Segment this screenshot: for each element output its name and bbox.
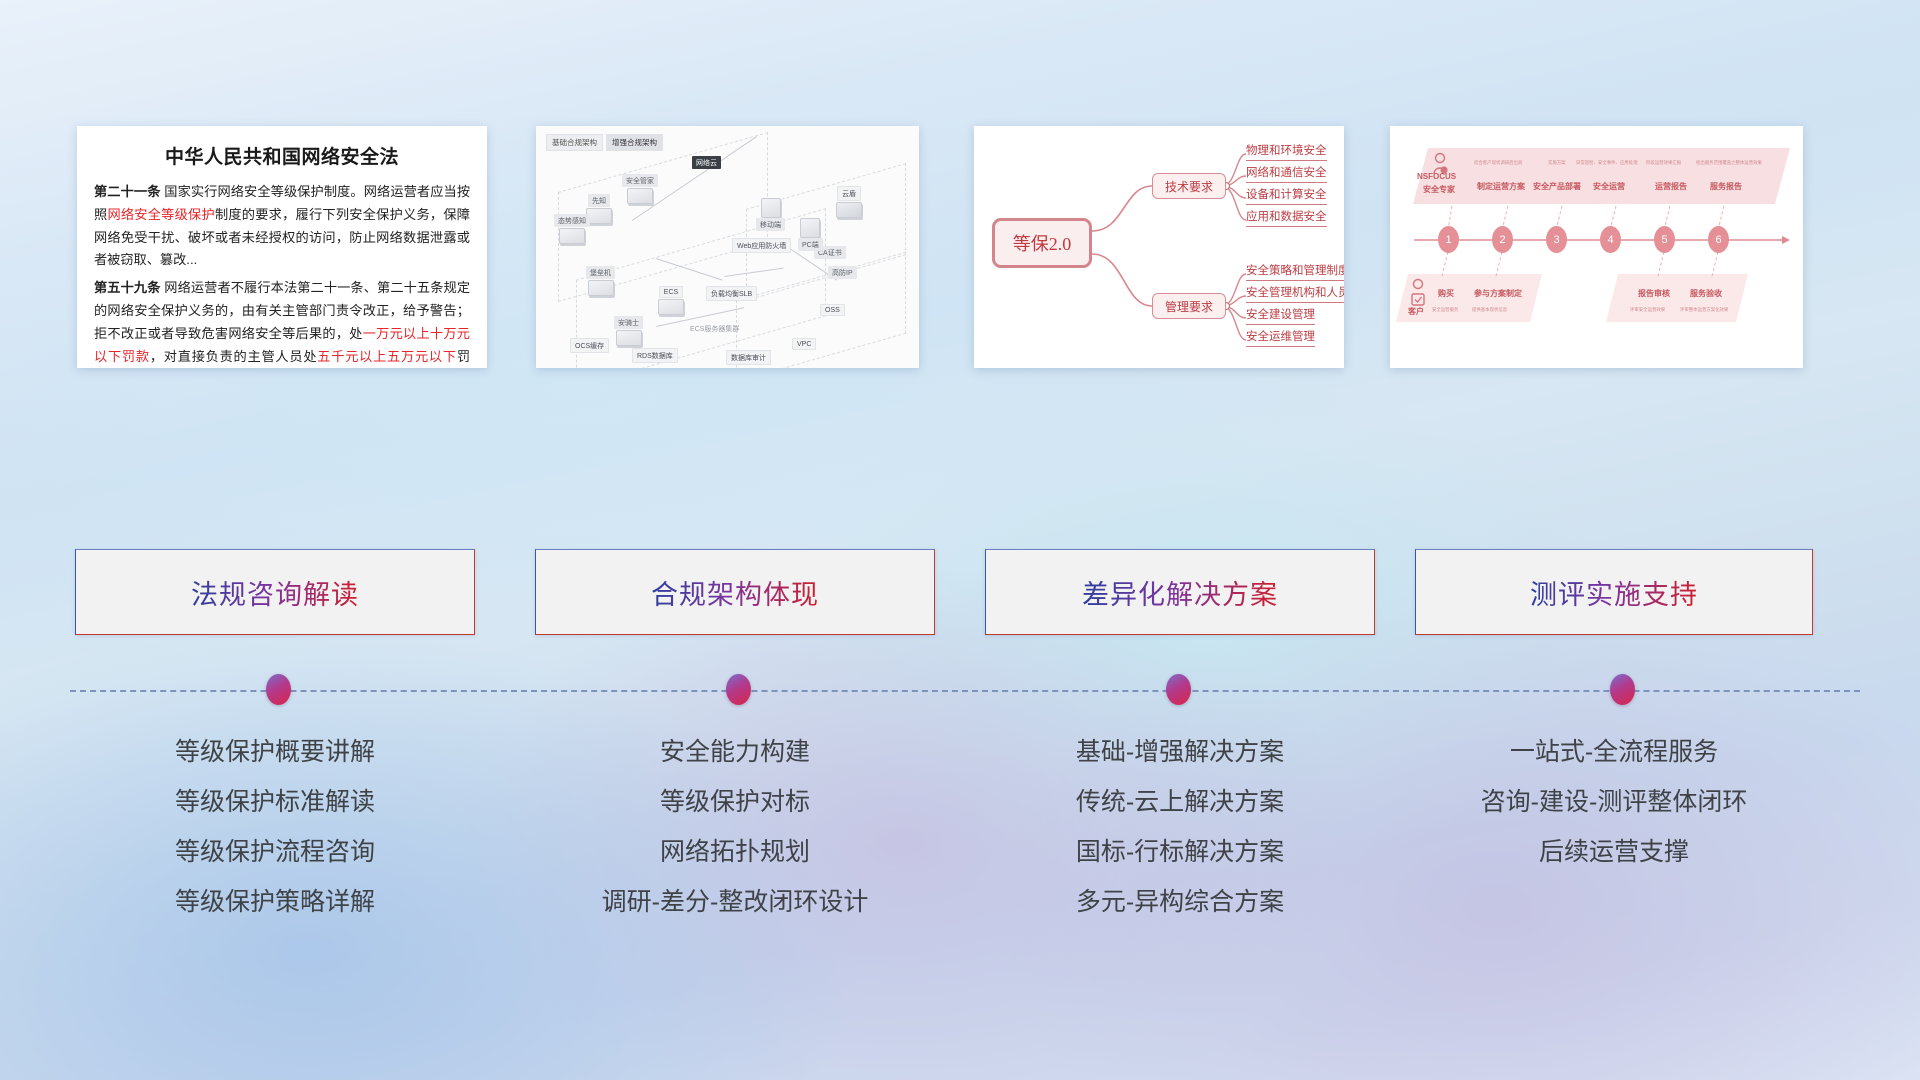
architecture-node-label: VPC: [792, 338, 816, 350]
architecture-node-ocs-cache: OCS缓存: [570, 338, 609, 354]
timeline: [70, 690, 1860, 692]
roadmap-bottom-sub: 提供基本现状信息: [1472, 307, 1507, 313]
roadmap-step-sub: 结合客户现状调研后出具: [1474, 160, 1522, 166]
architecture-node-anqishi: 安骑士: [614, 316, 643, 346]
roadmap-bottom-label: 购买: [1438, 288, 1454, 299]
architecture-node-label: OCS缓存: [570, 338, 609, 353]
architecture-node-label: 安全管家: [622, 174, 658, 187]
roadmap-step-sub: 实施方案: [1548, 160, 1566, 166]
headline-box-assessment-support[interactable]: 测评实施支持: [1415, 549, 1813, 635]
list-item: 等级保护流程咨询: [75, 840, 475, 865]
list-item: 咨询-建设-测评整体闭环: [1415, 790, 1813, 815]
list-item: 调研-差分-整改闭环设计: [535, 890, 935, 915]
timeline-dot-4[interactable]: [1610, 674, 1635, 705]
headline-label: 法规咨询解读: [191, 573, 359, 612]
server-cube-icon: [836, 202, 862, 218]
architecture-node-label: OSS: [820, 304, 845, 316]
mindmap-leaf: 安全管理机构和人员: [1246, 284, 1344, 303]
list-item: 基础-增强解决方案: [985, 740, 1375, 765]
roadmap-bottom-sub: 评审整体运营方案化效果: [1680, 307, 1728, 313]
roadmap-actor-expert-line2: 安全专家: [1423, 184, 1455, 195]
law-article-59-text-b: ，对直接负责的主管人员处: [150, 349, 317, 364]
mindmap-leaf: 安全建设管理: [1246, 306, 1315, 325]
architecture-node-vpc: VPC: [792, 338, 816, 351]
roadmap-bottom-label: 参与方案制定: [1474, 288, 1522, 299]
mindmap-leaf: 应用和数据安全: [1246, 208, 1327, 227]
architecture-node-bastion: 堡垒机: [586, 266, 615, 296]
server-cube-icon: [658, 299, 684, 315]
server-cube-icon: [559, 228, 585, 244]
headline-box-differentiated-solution[interactable]: 差异化解决方案: [985, 549, 1375, 635]
architecture-edge-label: ECS服务器集群: [686, 322, 743, 335]
roadmap-step-number: 1: [1438, 226, 1459, 253]
mindmap-root: 等保2.0: [992, 218, 1092, 268]
mindmap-branch-technical: 技术要求: [1152, 173, 1226, 199]
roadmap-step-label: 安全产品部署: [1533, 181, 1581, 192]
architecture-node-situation-awareness: 态势感知: [554, 214, 590, 244]
architecture-node-db-audit: 数据库审计: [726, 350, 771, 366]
architecture-node-label: 高防IP: [828, 266, 857, 279]
mindmap-branch-management: 管理要求: [1152, 293, 1226, 319]
roadmap-bottom-label: 服务验收: [1690, 288, 1722, 299]
roadmap-actor-expert-line1: NSFOCUS: [1417, 172, 1456, 181]
list-item: 国标-行标解决方案: [985, 840, 1375, 865]
roadmap-step-label: 服务报告: [1710, 181, 1742, 192]
list-item: 等级保护对标: [535, 790, 935, 815]
architecture-node-label: 安骑士: [614, 316, 643, 329]
law-document: 中华人民共和国网络安全法 第二十一条 国家实行网络安全等级保护制度。网络运营者应…: [77, 126, 487, 368]
roadmap-step-label: 安全运营: [1593, 181, 1625, 192]
server-cube-icon: [616, 330, 642, 346]
architecture-node-waf: Web应用防火墙: [732, 238, 791, 254]
service-roadmap: NSFOCUS 安全专家 结合客户现状调研后出具 制定运营方案 实施方案 安全产…: [1390, 126, 1803, 368]
architecture-node-label: 负载均衡SLB: [706, 286, 757, 301]
card-compliance-architecture[interactable]: 基础合规架构 增强合规架构 网络云 安全管家 先知: [536, 126, 919, 368]
card-cybersecurity-law[interactable]: 中华人民共和国网络安全法 第二十一条 国家实行网络安全等级保护制度。网络运营者应…: [77, 126, 487, 368]
headline-box-regulation-consulting[interactable]: 法规咨询解读: [75, 549, 475, 635]
detail-list-regulation-consulting: 等级保护概要讲解 等级保护标准解读 等级保护流程咨询 等级保护策略详解: [75, 740, 475, 940]
architecture-node-label: Web应用防火墙: [732, 238, 791, 253]
architecture-node-label: RDS数据库: [632, 348, 678, 363]
mindmap-leaf: 安全运维管理: [1246, 328, 1315, 347]
roadmap-step-number: 6: [1708, 226, 1729, 253]
law-article-59: 第五十九条 网络运营者不履行本法第二十一条、第二十五条规定的网络安全保护义务的，…: [94, 277, 470, 368]
architecture-node-pc: PC端: [798, 218, 823, 252]
list-item: 传统-云上解决方案: [985, 790, 1375, 815]
device-icon: [800, 218, 820, 238]
mindmap-leaf: 安全策略和管理制度: [1246, 262, 1344, 281]
roadmap-actor-customer: 客户: [1408, 306, 1424, 317]
roadmap-step-number: 2: [1492, 226, 1513, 253]
mindmap: 等保2.0 技术要求 管理要求 物理和环境安全 网络和通信安全 设备和计算安全 …: [974, 126, 1344, 368]
roadmap-step-sub: 阶段运营效果汇报: [1646, 160, 1681, 166]
headline-label: 合规架构体现: [651, 573, 819, 612]
timeline-dot-2[interactable]: [726, 674, 751, 705]
roadmap-bottom-sub: 评审安全运营效果: [1630, 307, 1665, 313]
server-cube-icon: [588, 280, 614, 296]
roadmap-bottom-sub: 安全运营服务: [1432, 307, 1458, 313]
architecture-node-oss: OSS: [820, 304, 845, 317]
architecture-node-label: PC端: [798, 238, 823, 251]
list-item: 一站式-全流程服务: [1415, 740, 1813, 765]
architecture-node-label: ECS: [659, 286, 683, 298]
architecture-node-anti-ddos-ip: 高防IP: [828, 266, 857, 280]
list-item: 网络拓扑规划: [535, 840, 935, 865]
detail-list-differentiated-solution: 基础-增强解决方案 传统-云上解决方案 国标-行标解决方案 多元-异构综合方案: [985, 740, 1375, 940]
architecture-node-label: 移动端: [756, 218, 785, 231]
mindmap-leaf: 网络和通信安全: [1246, 164, 1327, 183]
mindmap-leaf: 设备和计算安全: [1246, 186, 1327, 205]
headline-label: 差异化解决方案: [1082, 573, 1278, 612]
law-article-21: 第二十一条 国家实行网络安全等级保护制度。网络运营者应当按照网络安全等级保护制度…: [94, 181, 470, 272]
card-mindmap-dengbao[interactable]: 等保2.0 技术要求 管理要求 物理和环境安全 网络和通信安全 设备和计算安全 …: [974, 126, 1344, 368]
list-item: 多元-异构综合方案: [985, 890, 1375, 915]
roadmap-bottom-label: 报告审核: [1638, 288, 1670, 299]
law-article-59-label: 第五十九条: [94, 280, 161, 295]
architecture-node-label: 先知: [588, 194, 610, 207]
architecture-node-cloud: 网络云: [692, 156, 721, 170]
architecture-node-mobile: 移动端: [756, 198, 785, 232]
law-article-21-highlight: 网络安全等级保护: [107, 207, 215, 222]
architecture-node-yundun: 云盾: [836, 186, 862, 218]
architecture-diagram: 基础合规架构 增强合规架构 网络云 安全管家 先知: [536, 126, 919, 368]
architecture-node-security-butler: 安全管家: [622, 174, 658, 204]
timeline-dashed-line: [70, 690, 1860, 692]
roadmap-step-label: 制定运营方案: [1477, 181, 1525, 192]
card-service-roadmap[interactable]: NSFOCUS 安全专家 结合客户现状调研后出具 制定运营方案 实施方案 安全产…: [1390, 126, 1803, 368]
roadmap-step-sub: 给出服务范围覆盖之整体运营效果: [1696, 160, 1762, 166]
roadmap-step-number: 4: [1600, 226, 1621, 253]
list-item: 后续运营支撑: [1415, 840, 1813, 865]
detail-list-assessment-support: 一站式-全流程服务 咨询-建设-测评整体闭环 后续运营支撑: [1415, 740, 1813, 890]
mindmap-leaf: 物理和环境安全: [1246, 142, 1327, 161]
device-icon: [761, 198, 781, 218]
detail-list-compliance-architecture: 安全能力构建 等级保护对标 网络拓扑规划 调研-差分-整改闭环设计: [535, 740, 935, 940]
architecture-tabs[interactable]: 基础合规架构 增强合规架构: [546, 134, 663, 151]
architecture-node-label: 堡垒机: [586, 266, 615, 279]
list-item: 等级保护标准解读: [75, 790, 475, 815]
law-article-21-label: 第二十一条: [94, 184, 161, 199]
list-item: 安全能力构建: [535, 740, 935, 765]
architecture-node-rds: RDS数据库: [632, 348, 678, 364]
preview-cards-row: 中华人民共和国网络安全法 第二十一条 国家实行网络安全等级保护制度。网络运营者应…: [0, 126, 1920, 368]
headline-box-compliance-architecture[interactable]: 合规架构体现: [535, 549, 935, 635]
architecture-tab-basic[interactable]: 基础合规架构: [546, 134, 603, 151]
roadmap-step-label: 运营报告: [1655, 181, 1687, 192]
architecture-node-label: 数据库审计: [726, 350, 771, 365]
law-article-59-highlight-2: 五千元以上五万元以下: [317, 349, 457, 364]
architecture-edge-label-ecs-cluster: ECS服务器集群: [686, 322, 743, 336]
architecture-node-label: 网络云: [692, 156, 721, 169]
list-item: 等级保护概要讲解: [75, 740, 475, 765]
roadmap-step-sub: 日常巡检、安全事件、应用处理: [1576, 160, 1637, 166]
headline-boxes-row: 法规咨询解读 合规架构体现 差异化解决方案 测评实施支持: [0, 549, 1920, 635]
architecture-node-ecs: ECS: [658, 286, 684, 315]
law-title: 中华人民共和国网络安全法: [94, 142, 470, 169]
architecture-node-label: 态势感知: [554, 214, 590, 227]
timeline-dot-3[interactable]: [1166, 674, 1191, 705]
architecture-node-label: 云盾: [837, 186, 861, 201]
list-item: 等级保护策略详解: [75, 890, 475, 915]
server-cube-icon: [627, 188, 653, 204]
headline-label: 测评实施支持: [1530, 573, 1698, 612]
roadmap-step-number: 3: [1546, 226, 1567, 253]
architecture-node-slb: 负载均衡SLB: [706, 286, 757, 302]
timeline-dot-1[interactable]: [266, 674, 291, 705]
roadmap-step-number: 5: [1654, 226, 1675, 253]
architecture-tab-enhanced[interactable]: 增强合规架构: [606, 134, 663, 151]
